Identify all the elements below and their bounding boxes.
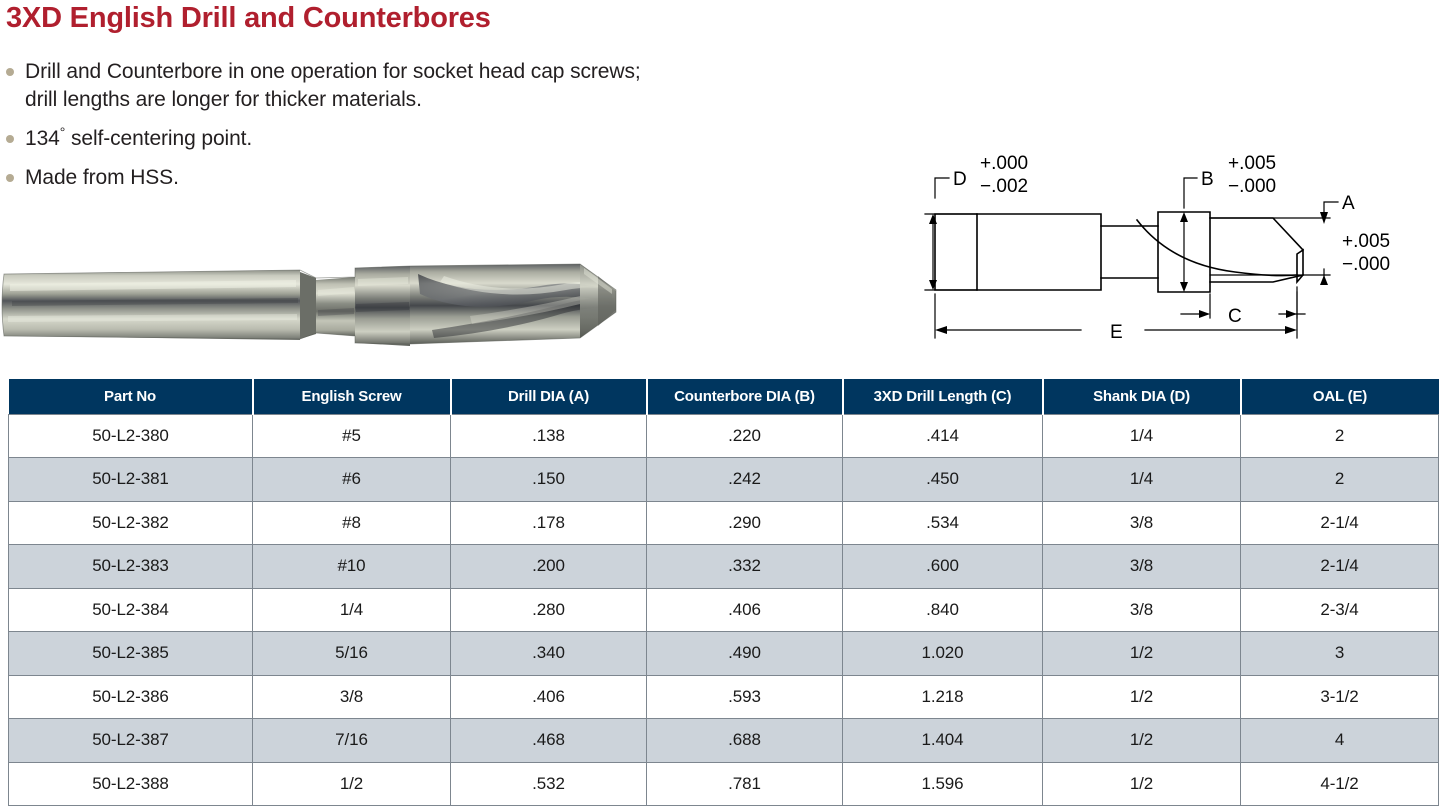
cell-3xd-drill-length: .600 — [843, 545, 1043, 589]
cell-counterbore-dia: .406 — [647, 588, 843, 632]
diagram-label-C: C — [1228, 306, 1242, 327]
cell-shank-dia: 1/4 — [1043, 414, 1241, 458]
bullet-dot-icon — [6, 135, 14, 143]
diagram-label-A: A — [1342, 193, 1355, 214]
cell-english-screw: #6 — [253, 458, 451, 502]
bullet-text: 134° self-centering point. — [25, 125, 252, 153]
cell-3xd-drill-length: 1.404 — [843, 719, 1043, 763]
cell-drill-dia: .178 — [451, 501, 647, 545]
column-header-shank-dia[interactable]: Shank DIA (D) — [1043, 379, 1241, 414]
bullet-text: Made from HSS. — [25, 164, 179, 192]
column-header-part-no[interactable]: Part No — [9, 379, 253, 414]
cell-shank-dia: 1/4 — [1043, 458, 1241, 502]
cell-3xd-drill-length: .534 — [843, 501, 1043, 545]
cell-oal: 4 — [1241, 719, 1439, 763]
cell-drill-dia: .150 — [451, 458, 647, 502]
cell-drill-dia: .200 — [451, 545, 647, 589]
diagram-label-D: D — [953, 169, 967, 190]
diagram-tolerance-D-minus: −.002 — [980, 176, 1028, 197]
cell-counterbore-dia: .781 — [647, 762, 843, 806]
list-item: Drill and Counterbore in one operation f… — [6, 58, 866, 114]
bullet-dot-icon — [6, 68, 14, 76]
cell-shank-dia: 1/2 — [1043, 719, 1241, 763]
cell-shank-dia: 1/2 — [1043, 675, 1241, 719]
cell-counterbore-dia: .688 — [647, 719, 843, 763]
cell-shank-dia: 3/8 — [1043, 545, 1241, 589]
cell-part-no: 50-L2-385 — [9, 632, 253, 676]
table-row[interactable]: 50-L2-3841/4.280.406.8403/82-3/4 — [9, 588, 1439, 632]
column-header-english-screw[interactable]: English Screw — [253, 379, 451, 414]
cell-english-screw: 5/16 — [253, 632, 451, 676]
cell-drill-dia: .280 — [451, 588, 647, 632]
cell-3xd-drill-length: .414 — [843, 414, 1043, 458]
table-row[interactable]: 50-L2-383#10.200.332.6003/82-1/4 — [9, 545, 1439, 589]
cell-shank-dia: 3/8 — [1043, 588, 1241, 632]
cell-oal: 3 — [1241, 632, 1439, 676]
cell-english-screw: #8 — [253, 501, 451, 545]
bullet-line-1: Drill and Counterbore in one operation f… — [25, 60, 641, 83]
cell-counterbore-dia: .332 — [647, 545, 843, 589]
table-row[interactable]: 50-L2-382#8.178.290.5343/82-1/4 — [9, 501, 1439, 545]
cell-english-screw: #5 — [253, 414, 451, 458]
table-row[interactable]: 50-L2-3877/16.468.6881.4041/24 — [9, 719, 1439, 763]
cell-3xd-drill-length: .840 — [843, 588, 1043, 632]
cell-part-no: 50-L2-383 — [9, 545, 253, 589]
product-photo — [0, 246, 640, 361]
bullet-dot-icon — [6, 174, 14, 182]
bullet-angle-suffix: self-centering point. — [65, 127, 252, 150]
cell-english-screw: 7/16 — [253, 719, 451, 763]
cell-counterbore-dia: .242 — [647, 458, 843, 502]
cell-shank-dia: 1/2 — [1043, 632, 1241, 676]
cell-part-no: 50-L2-388 — [9, 762, 253, 806]
dimension-diagram-svg: D B A C E +.000 −.002 +.005 −.000 +.005 … — [905, 142, 1445, 357]
cell-oal: 2-1/4 — [1241, 545, 1439, 589]
datasheet-page: 3XD English Drill and Counterbores Drill… — [0, 0, 1445, 812]
cell-drill-dia: .340 — [451, 632, 647, 676]
cell-oal: 2-3/4 — [1241, 588, 1439, 632]
table-row[interactable]: 50-L2-3855/16.340.4901.0201/23 — [9, 632, 1439, 676]
cell-oal: 2 — [1241, 414, 1439, 458]
table-row[interactable]: 50-L2-3881/2.532.7811.5961/24-1/2 — [9, 762, 1439, 806]
cell-counterbore-dia: .220 — [647, 414, 843, 458]
cell-drill-dia: .406 — [451, 675, 647, 719]
cell-part-no: 50-L2-387 — [9, 719, 253, 763]
cell-drill-dia: .532 — [451, 762, 647, 806]
cell-part-no: 50-L2-381 — [9, 458, 253, 502]
table-row[interactable]: 50-L2-380#5.138.220.4141/42 — [9, 414, 1439, 458]
bullet-angle-value: 134 — [25, 127, 60, 150]
specifications-table: Part No English Screw Drill DIA (A) Coun… — [8, 379, 1439, 806]
diagram-tolerance-A-plus: +.005 — [1342, 231, 1390, 252]
cell-drill-dia: .468 — [451, 719, 647, 763]
cell-counterbore-dia: .290 — [647, 501, 843, 545]
cell-3xd-drill-length: 1.596 — [843, 762, 1043, 806]
bullet-text: Drill and Counterbore in one operation f… — [25, 58, 641, 114]
diagram-tolerance-A-minus: −.000 — [1342, 254, 1390, 275]
cell-part-no: 50-L2-380 — [9, 414, 253, 458]
cell-shank-dia: 3/8 — [1043, 501, 1241, 545]
cell-oal: 2-1/4 — [1241, 501, 1439, 545]
cell-part-no: 50-L2-384 — [9, 588, 253, 632]
page-title: 3XD English Drill and Counterbores — [6, 2, 491, 35]
column-header-drill-dia[interactable]: Drill DIA (A) — [451, 379, 647, 414]
table-row[interactable]: 50-L2-3863/8.406.5931.2181/23-1/2 — [9, 675, 1439, 719]
list-item: Made from HSS. — [6, 164, 866, 192]
cell-english-screw: #10 — [253, 545, 451, 589]
dimension-diagram: D B A C E +.000 −.002 +.005 −.000 +.005 … — [905, 142, 1445, 357]
list-item: 134° self-centering point. — [6, 125, 866, 153]
table-header-row: Part No English Screw Drill DIA (A) Coun… — [9, 379, 1439, 414]
drill-bit-photo-illustration — [0, 246, 640, 361]
cell-english-screw: 1/2 — [253, 762, 451, 806]
diagram-label-E: E — [1110, 322, 1123, 343]
column-header-counterbore-dia[interactable]: Counterbore DIA (B) — [647, 379, 843, 414]
cell-3xd-drill-length: 1.218 — [843, 675, 1043, 719]
cell-english-screw: 1/4 — [253, 588, 451, 632]
feature-bullet-list: Drill and Counterbore in one operation f… — [6, 58, 866, 204]
cell-3xd-drill-length: 1.020 — [843, 632, 1043, 676]
cell-oal: 4-1/2 — [1241, 762, 1439, 806]
cell-english-screw: 3/8 — [253, 675, 451, 719]
cell-3xd-drill-length: .450 — [843, 458, 1043, 502]
cell-part-no: 50-L2-382 — [9, 501, 253, 545]
diagram-label-B: B — [1201, 169, 1214, 190]
column-header-oal[interactable]: OAL (E) — [1241, 379, 1439, 414]
cell-drill-dia: .138 — [451, 414, 647, 458]
table-row[interactable]: 50-L2-381#6.150.242.4501/42 — [9, 458, 1439, 502]
table-body: 50-L2-380#5.138.220.4141/4250-L2-381#6.1… — [9, 414, 1439, 806]
cell-oal: 3-1/2 — [1241, 675, 1439, 719]
cell-part-no: 50-L2-386 — [9, 675, 253, 719]
bullet-line-2: drill lengths are longer for thicker mat… — [25, 88, 422, 111]
diagram-tolerance-B-minus: −.000 — [1228, 176, 1276, 197]
cell-counterbore-dia: .593 — [647, 675, 843, 719]
diagram-tolerance-B-plus: +.005 — [1228, 153, 1276, 174]
cell-oal: 2 — [1241, 458, 1439, 502]
diagram-tolerance-D-plus: +.000 — [980, 153, 1028, 174]
column-header-3xd-drill-length[interactable]: 3XD Drill Length (C) — [843, 379, 1043, 414]
cell-counterbore-dia: .490 — [647, 632, 843, 676]
cell-shank-dia: 1/2 — [1043, 762, 1241, 806]
